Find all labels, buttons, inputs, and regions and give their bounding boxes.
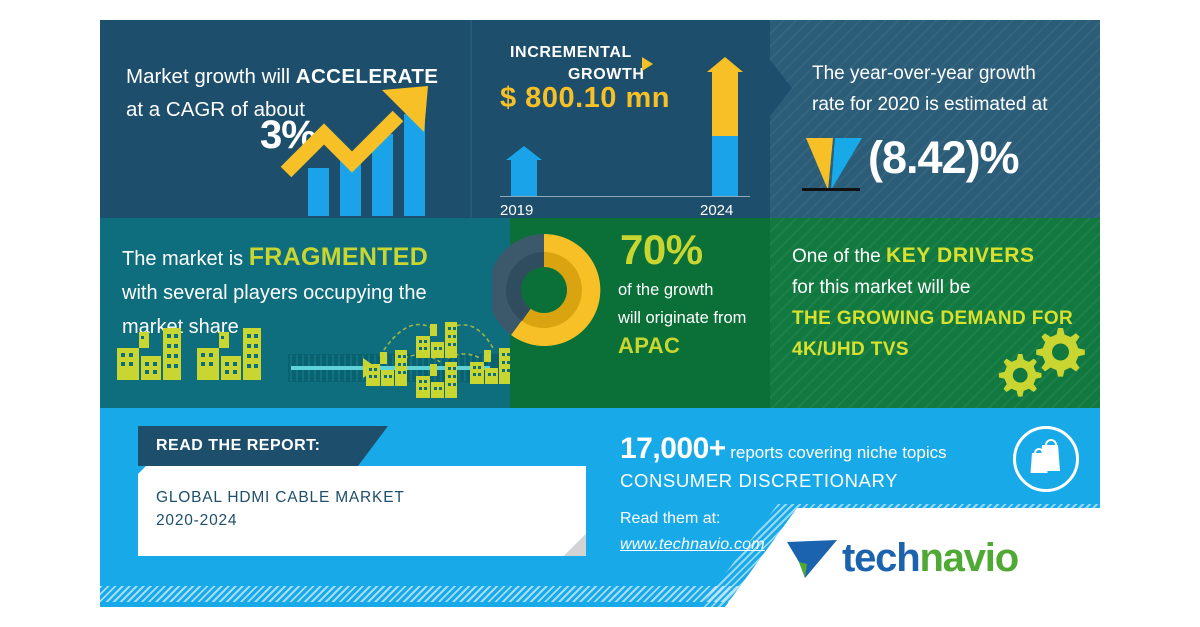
apac-line1: of the growth <box>618 281 713 299</box>
row-middle: The market is FRAGMENTED with several pl… <box>100 218 1100 408</box>
row-top: Market growth will ACCELERATE at a CAGR … <box>100 20 1100 218</box>
read-the-report-label: READ THE REPORT: <box>156 437 320 454</box>
gears-icon <box>998 322 1088 400</box>
drivers-line4: 4K/UHD TVS <box>792 339 909 360</box>
apac-statement: of the growth will originate from <box>618 276 778 332</box>
incremental-value: $ 800.10 mn <box>500 82 670 115</box>
decline-baseline <box>802 188 860 191</box>
infographic-root: Market growth will ACCELERATE at a CAGR … <box>0 0 1200 627</box>
yoy-line1: The year-over-year growth <box>812 63 1036 84</box>
yoy-value: (8.42)% <box>868 132 1019 184</box>
read-them-at-label: Read them at: <box>620 510 721 528</box>
axis-label-2024: 2024 <box>700 202 733 219</box>
shopping-bags-icon <box>1013 426 1079 492</box>
row-footer: READ THE REPORT: GLOBAL HDMI CABLE MARKE… <box>100 408 1100 607</box>
report-title-line2: 2020-2024 <box>156 512 237 529</box>
panel-fragmented-market: The market is FRAGMENTED with several pl… <box>100 218 510 408</box>
incremental-title-line1: INCREMENTAL <box>500 42 692 64</box>
reports-count-suffix: reports covering niche topics <box>730 443 946 462</box>
brand-text-second: navio <box>919 536 1017 580</box>
apac-region-label: APAC <box>618 333 680 359</box>
apac-line2: will originate from <box>618 309 746 327</box>
decline-triangle-icon <box>806 138 864 190</box>
infographic-board: Market growth will ACCELERATE at a CAGR … <box>100 20 1100 607</box>
reports-count: 17,000+ <box>620 432 726 465</box>
bar-2019 <box>511 160 537 196</box>
reports-count-row: 17,000+ reports covering niche topics <box>620 432 947 466</box>
technavio-wordmark: technavio <box>842 536 1018 581</box>
panel-key-drivers: One of the KEY DRIVERS for this market w… <box>770 218 1100 408</box>
report-title-line1: GLOBAL HDMI CABLE MARKET <box>156 489 405 506</box>
bar-2024-base <box>712 136 738 196</box>
apac-donut-chart <box>492 228 612 358</box>
growth-arrow-chart-icon <box>278 86 478 216</box>
drivers-accent: KEY DRIVERS <box>886 244 1035 267</box>
cagr-line1-prefix: Market growth will <box>126 65 296 88</box>
drivers-line2: for this market will be <box>792 277 970 298</box>
technavio-logo-mark <box>785 538 841 584</box>
brand-text-first: tech <box>842 536 919 580</box>
yoy-statement: The year-over-year growth rate for 2020 … <box>812 58 1092 120</box>
panel-yoy-growth: The year-over-year growth rate for 2020 … <box>770 20 1100 218</box>
panel-incremental-growth: INCREMENTAL GROWTH $ 800.10 mn 2019 2024 <box>470 20 770 218</box>
fragmented-line1-prefix: The market is <box>122 248 249 270</box>
apac-percent: 70% <box>620 226 703 274</box>
fragmented-accent: FRAGMENTED <box>249 243 428 271</box>
fragmented-line2: with several players occupying the <box>122 282 427 304</box>
report-title: GLOBAL HDMI CABLE MARKET 2020-2024 <box>156 486 405 532</box>
panel-apac-growth: 70% of the growth will originate from AP… <box>510 218 770 408</box>
cagr-line1-accent: ACCELERATE <box>296 65 439 88</box>
axis-label-2019: 2019 <box>500 202 533 219</box>
report-category: CONSUMER DISCRETIONARY <box>620 470 898 492</box>
panel-cagr: Market growth will ACCELERATE at a CAGR … <box>100 20 470 218</box>
footer-bottom-stripes <box>100 586 1100 602</box>
yoy-line2: rate for 2020 is estimated at <box>812 94 1048 115</box>
panel-divider-chevron <box>770 60 792 116</box>
read-the-report-banner: READ THE REPORT: <box>138 426 388 466</box>
bar-2024-increment <box>712 72 738 136</box>
report-card[interactable]: GLOBAL HDMI CABLE MARKET 2020-2024 <box>138 466 586 556</box>
chart-axis-line <box>500 196 750 197</box>
play-caret-icon <box>642 57 653 71</box>
drivers-line1-prefix: One of the <box>792 246 886 267</box>
